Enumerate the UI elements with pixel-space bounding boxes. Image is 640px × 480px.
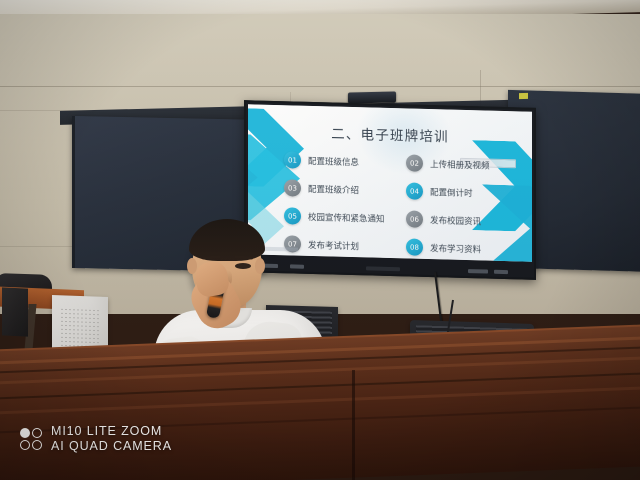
item-label: 配置班级信息	[308, 154, 359, 167]
list-item: 06 发布校园资讯	[406, 210, 518, 230]
item-label: 发布校园资讯	[430, 214, 481, 227]
photo-scene: 二、电子班牌培训 01 配置班级信息 03 配置班级介绍 05	[0, 0, 640, 480]
list-item: 02 上传相册及视频	[406, 154, 518, 174]
desk-panel-seam	[352, 370, 355, 480]
bezel-marking	[468, 269, 488, 274]
item-number-badge: 03	[284, 179, 301, 196]
item-number-badge: 02	[406, 154, 423, 171]
list-item: 03 配置班级介绍	[284, 179, 396, 199]
list-item: 01 配置班级信息	[284, 151, 396, 171]
item-label: 上传相册及视频	[430, 158, 490, 172]
slide-column-right: 02 上传相册及视频 04 配置倒计时 06 发布校园资讯 08	[406, 154, 518, 258]
item-label: 发布学习资料	[430, 242, 481, 255]
item-number-badge: 01	[284, 151, 301, 168]
watermark-text: MI10 LITE ZOOM AI QUAD CAMERA	[51, 424, 172, 455]
item-number-badge: 04	[406, 182, 423, 199]
quad-camera-icon	[20, 428, 42, 450]
item-label: 配置班级介绍	[308, 182, 359, 195]
black-equipment-box	[2, 287, 28, 336]
yellow-marker-tag	[519, 93, 528, 99]
item-label: 配置倒计时	[430, 186, 473, 199]
wall-seam	[0, 86, 640, 87]
item-number-badge: 08	[406, 238, 423, 255]
watermark-line-1: MI10 LITE ZOOM	[51, 424, 172, 439]
presenter-ear	[255, 258, 265, 274]
watermark-line-2: AI QUAD CAMERA	[51, 439, 172, 454]
presenter-hair	[189, 219, 265, 261]
item-number-badge: 06	[406, 210, 423, 227]
list-item: 08 发布学习资料	[406, 238, 518, 258]
presenter-eye	[235, 263, 251, 269]
list-item: 04 配置倒计时	[406, 182, 518, 202]
ceiling-camera-bar	[348, 91, 396, 103]
bezel-brand-mark	[366, 266, 400, 271]
speaker-grill	[60, 307, 100, 350]
bezel-marking	[494, 270, 508, 274]
camera-watermark: MI10 LITE ZOOM AI QUAD CAMERA	[20, 424, 172, 455]
